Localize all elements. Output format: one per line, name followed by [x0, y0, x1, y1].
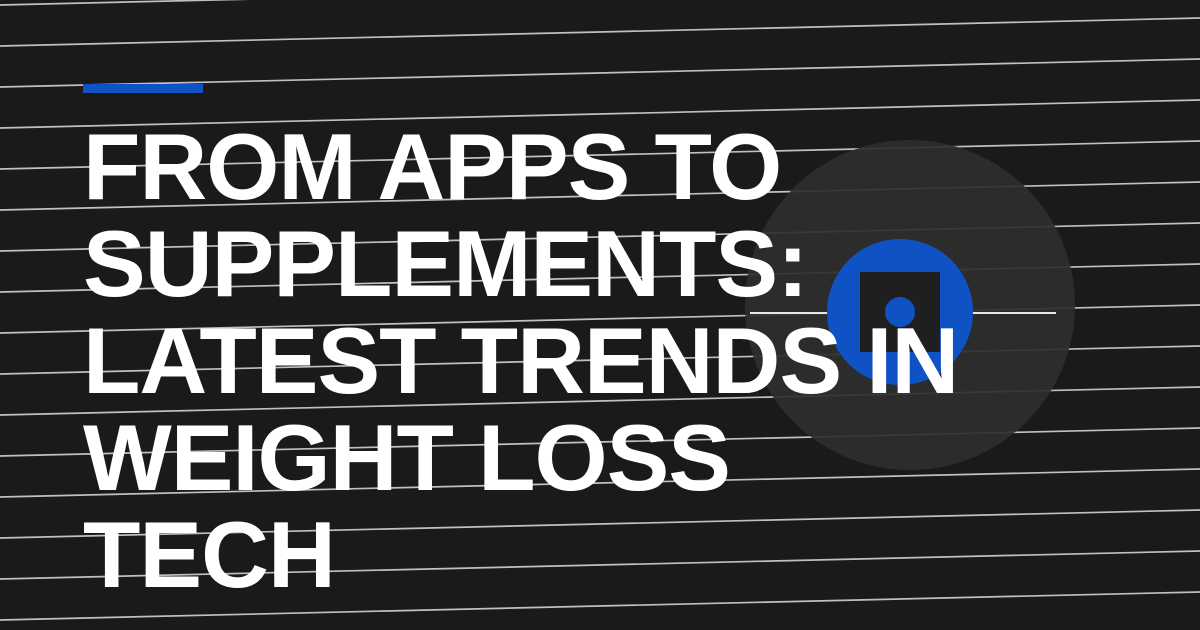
social-share-banner: FROM APPS TO SUPPLEMENTS: LATEST TRENDS … [0, 0, 1200, 630]
page-title: FROM APPS TO SUPPLEMENTS: LATEST TRENDS … [83, 118, 983, 603]
banner-content: FROM APPS TO SUPPLEMENTS: LATEST TRENDS … [83, 84, 983, 603]
accent-bar [83, 84, 203, 93]
